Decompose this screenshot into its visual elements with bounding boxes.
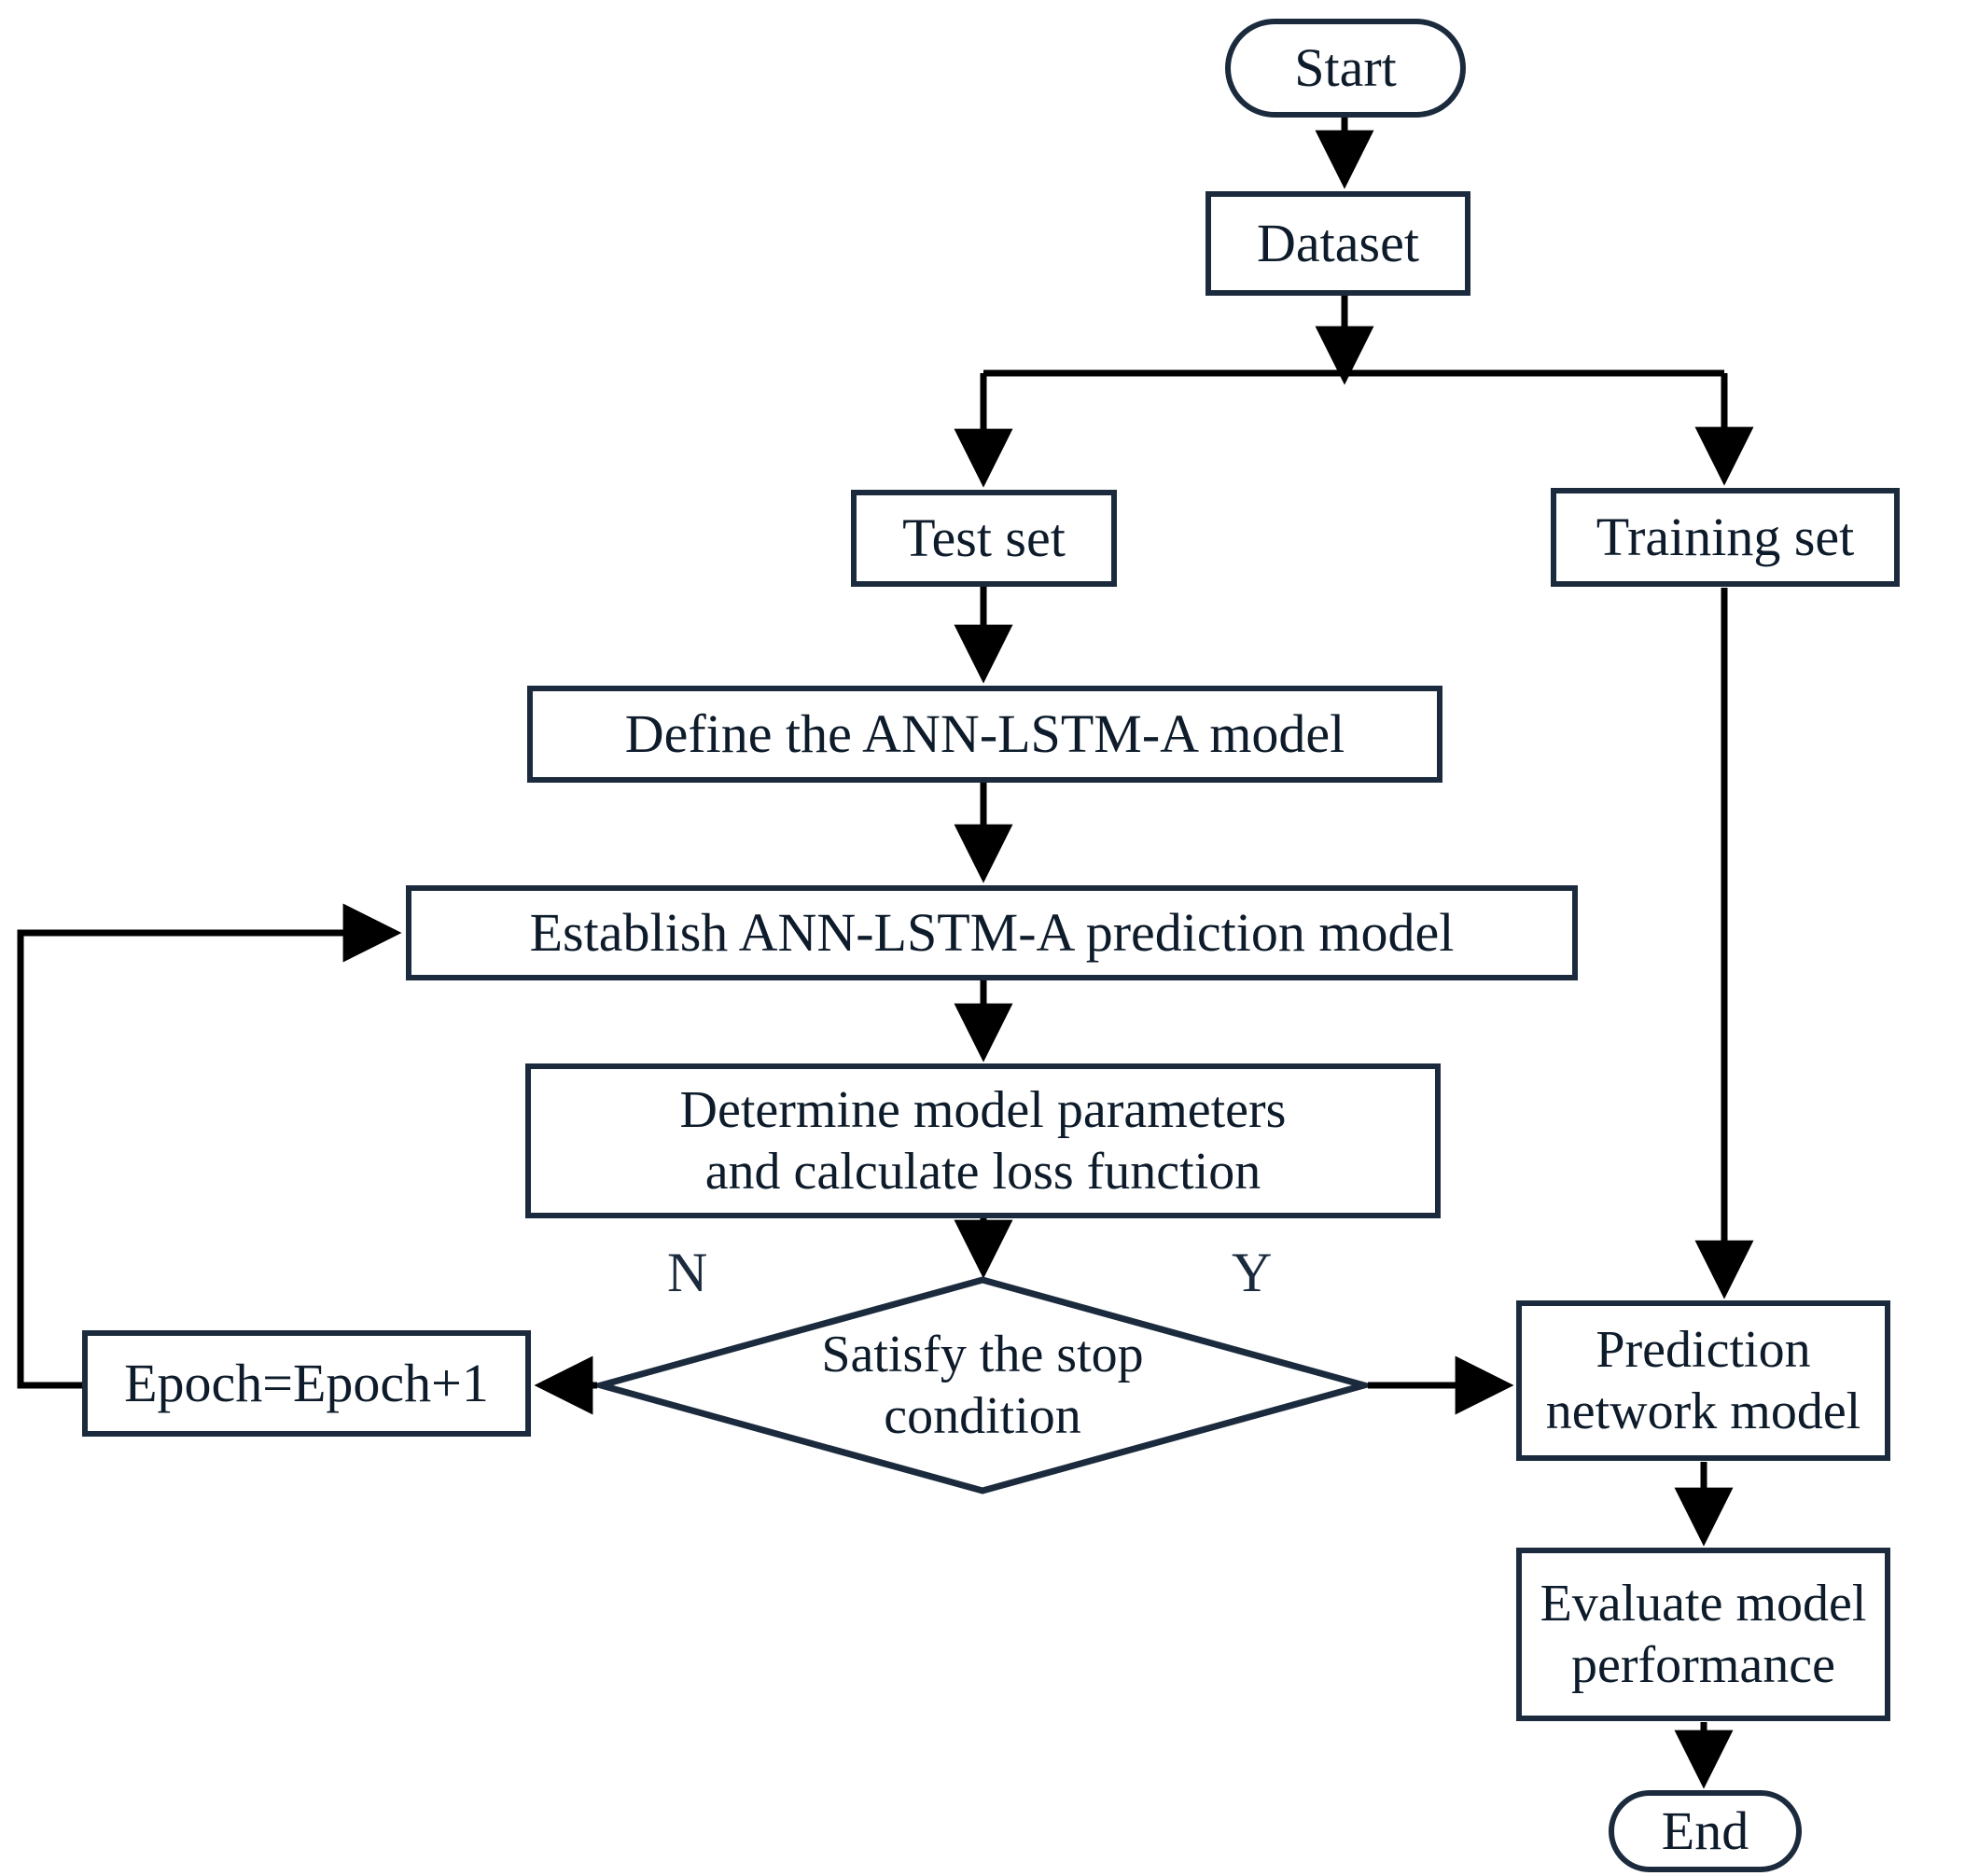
node-define-model-label: Define the ANN-LSTM-A model xyxy=(616,702,1355,766)
node-determine-parameters-label: Determine model parameters and calculate… xyxy=(671,1079,1296,1202)
node-dataset-label: Dataset xyxy=(1247,212,1428,275)
node-establish-prediction-model-label: Establish ANN-LSTM-A prediction model xyxy=(521,901,1464,965)
node-end-label: End xyxy=(1652,1800,1758,1863)
node-evaluate-performance-label: Evaluate model performance xyxy=(1531,1573,1876,1696)
node-training-set[interactable]: Training set xyxy=(1551,488,1900,587)
node-prediction-network-model[interactable]: Prediction network model xyxy=(1516,1300,1890,1461)
node-define-model[interactable]: Define the ANN-LSTM-A model xyxy=(527,686,1442,783)
node-start[interactable]: Start xyxy=(1225,19,1466,118)
edge-label-yes: Y xyxy=(1232,1241,1272,1305)
edge-label-no: N xyxy=(667,1241,707,1305)
node-epoch-increment-label: Epoch=Epoch+1 xyxy=(115,1352,498,1415)
node-start-label: Start xyxy=(1285,36,1406,100)
node-test-set-label: Test set xyxy=(893,507,1075,570)
node-establish-prediction-model[interactable]: Establish ANN-LSTM-A prediction model xyxy=(406,885,1578,980)
node-epoch-increment[interactable]: Epoch=Epoch+1 xyxy=(82,1330,531,1437)
node-dataset[interactable]: Dataset xyxy=(1205,191,1470,296)
flowchart-canvas: Start Dataset Test set Training set Defi… xyxy=(0,0,1965,1876)
node-end[interactable]: End xyxy=(1609,1790,1802,1872)
node-prediction-network-model-label: Prediction network model xyxy=(1537,1319,1870,1442)
node-stop-condition-decision[interactable]: Satisfy the stop condition xyxy=(597,1276,1368,1494)
node-evaluate-performance[interactable]: Evaluate model performance xyxy=(1516,1548,1890,1721)
node-stop-condition-decision-label: Satisfy the stop condition xyxy=(821,1324,1143,1447)
node-training-set-label: Training set xyxy=(1587,506,1864,569)
node-determine-parameters[interactable]: Determine model parameters and calculate… xyxy=(525,1063,1441,1218)
edge-epoch-to-establish xyxy=(21,933,390,1385)
node-test-set[interactable]: Test set xyxy=(851,490,1117,587)
